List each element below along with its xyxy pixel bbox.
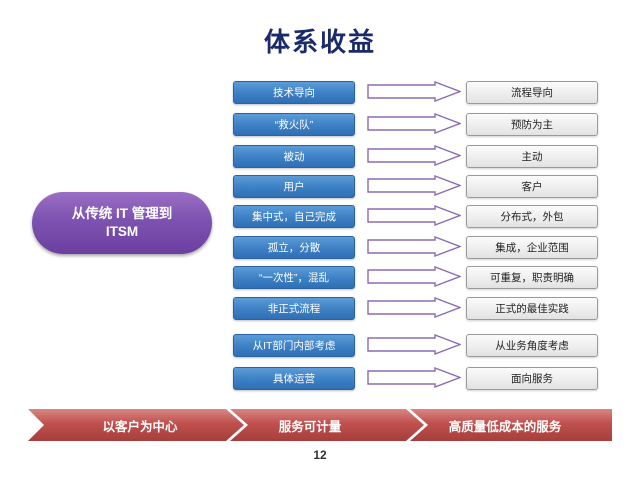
- to-box: 预防为主: [466, 113, 598, 136]
- from-box: 孤立，分散: [233, 236, 355, 259]
- right-arrow-icon: [367, 367, 461, 388]
- band-segment-label: 服务可计量: [240, 409, 380, 441]
- to-box: 流程导向: [466, 81, 598, 104]
- source-state-callout: 从传统 IT 管理到ITSM: [32, 192, 212, 254]
- to-box: 主动: [466, 145, 598, 168]
- right-arrow-icon: [367, 236, 461, 257]
- from-box: “救火队”: [233, 113, 355, 136]
- right-arrow-icon: [367, 113, 461, 134]
- to-box: 可重复，职责明确: [466, 266, 598, 289]
- slide-canvas: 体系收益 从传统 IT 管理到ITSM 技术导向 流程导向 “救火队” 预防为主…: [0, 0, 640, 479]
- page-title: 体系收益: [0, 22, 640, 59]
- to-box: 分布式，外包: [466, 205, 598, 228]
- callout-label: 从传统 IT 管理到ITSM: [72, 205, 173, 241]
- to-box: 正式的最佳实践: [466, 297, 598, 320]
- to-box: 集成，企业范围: [466, 236, 598, 259]
- right-arrow-icon: [367, 205, 461, 226]
- from-box: 技术导向: [233, 81, 355, 104]
- from-box: 被动: [233, 145, 355, 168]
- from-box: 非正式流程: [233, 297, 355, 320]
- from-box: 用户: [233, 175, 355, 198]
- right-arrow-icon: [367, 81, 461, 102]
- from-box: 集中式，自己完成: [233, 205, 355, 228]
- to-box: 面向服务: [466, 367, 598, 390]
- band-segment-label: 以客户为中心: [60, 409, 220, 441]
- right-arrow-icon: [367, 297, 461, 318]
- from-box: 从IT部门内部考虑: [233, 334, 355, 357]
- right-arrow-icon: [367, 266, 461, 287]
- right-arrow-icon: [367, 175, 461, 196]
- right-arrow-icon: [367, 145, 461, 166]
- to-box: 从业务角度考虑: [466, 334, 598, 357]
- right-arrow-icon: [367, 334, 461, 355]
- page-number: 12: [0, 448, 640, 462]
- band-segment-label: 高质量低成本的服务: [410, 409, 600, 441]
- to-box: 客户: [466, 175, 598, 198]
- from-box: “一次性”，混乱: [233, 266, 355, 289]
- from-box: 具体运营: [233, 367, 355, 390]
